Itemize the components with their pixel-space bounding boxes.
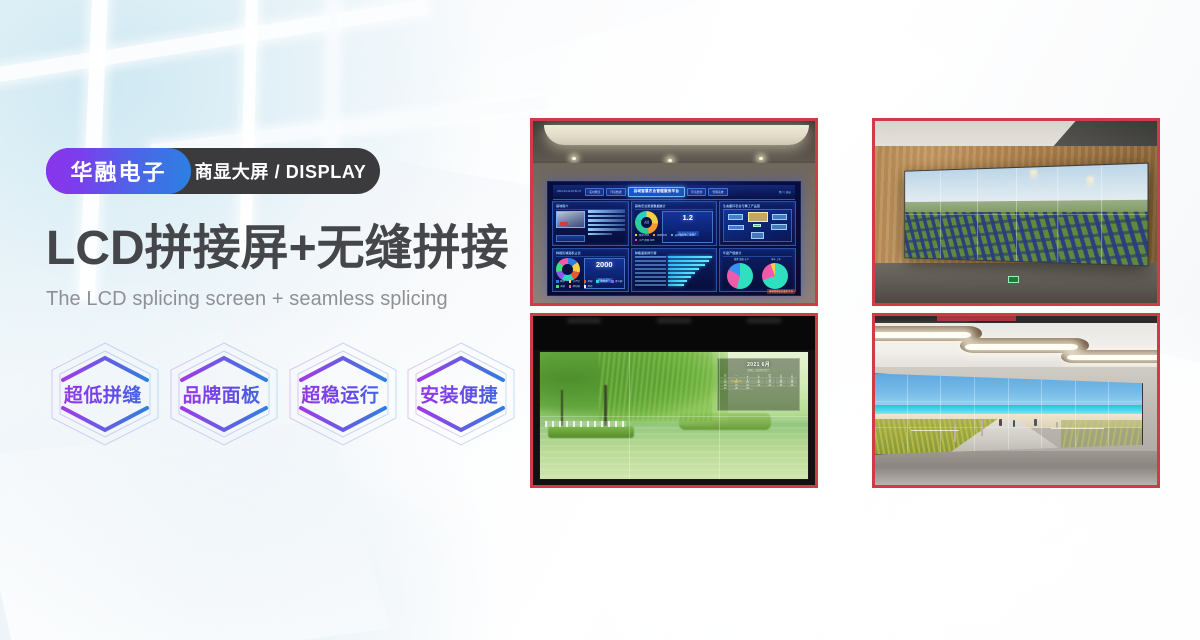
feature-badge-3: 超稳运行 xyxy=(284,339,398,449)
panel-text-lines xyxy=(588,210,625,237)
feature-badge-2: 品牌面板 xyxy=(165,339,279,449)
panel-seam xyxy=(907,374,908,453)
panel-seam xyxy=(1075,374,1076,453)
bar-row xyxy=(635,260,713,263)
bar-row xyxy=(635,272,713,275)
donut-center-label: 占比 xyxy=(635,211,658,234)
calendar-weekday: 五 xyxy=(776,373,787,377)
feature-badge-3-label: 超稳运行 xyxy=(284,380,398,407)
calendar-day[interactable]: 25 xyxy=(776,385,787,387)
dashboard-navbar: 2021-04-12 10:51:27 实时概览 环境数据 县域智慧农业管理服务… xyxy=(553,185,795,200)
pie-chart-1 xyxy=(727,263,753,289)
bar-row xyxy=(635,256,713,259)
rope xyxy=(911,430,959,431)
panel-seam xyxy=(875,427,1142,428)
donut-chart: 占比 xyxy=(635,211,658,234)
dashboard-user-info[interactable]: 用户 | 退出 xyxy=(779,190,793,194)
ceiling-light-strip xyxy=(965,344,1078,350)
calendar-day[interactable]: 27 xyxy=(720,388,731,390)
legend-item: 药材园 xyxy=(572,284,579,288)
solar-panel-array xyxy=(905,212,1148,265)
wall-lamp xyxy=(1087,177,1094,188)
dashboard-timestamp: 2021-04-12 10:51:27 xyxy=(555,190,583,193)
bar-row xyxy=(635,264,713,267)
dashboard-panel-产业链: 生态循环农业与精工产品链 xyxy=(719,201,796,246)
calendar-weekday: 四 xyxy=(765,373,776,377)
video-wall-screen: 2021 6月 星期二 农历四月廿六 日 一 二 三 四 五 六 1 2 xyxy=(539,351,810,479)
floor xyxy=(875,263,1157,303)
panel-seam xyxy=(905,214,1148,215)
ceiling-light-strip xyxy=(1067,355,1157,360)
legend-item: 畜牧服务中心 15% xyxy=(675,233,695,237)
ceiling-glow xyxy=(657,318,691,323)
willow-branches xyxy=(599,351,712,420)
dashboard-tab-1[interactable]: 实时概览 xyxy=(585,188,604,196)
ceiling-light-strip xyxy=(875,332,971,338)
bar-chart xyxy=(635,256,713,289)
feature-badge-2-label: 品牌面板 xyxy=(165,380,279,407)
legend-item: 苗木园 xyxy=(615,279,622,283)
promo-banner: 华融电子 商显大屏 / DISPLAY LCD拼接屏+无缝拼接 The LCD … xyxy=(0,0,1200,640)
person-figure xyxy=(1034,419,1037,426)
bar-row xyxy=(635,280,713,283)
pie-chart-2 xyxy=(762,263,788,289)
bar-row xyxy=(635,268,713,271)
fence-railing xyxy=(545,421,626,427)
legend-item: 蔬菜棚 xyxy=(600,279,607,283)
ceiling-cove-light xyxy=(544,125,809,145)
ceiling-glow xyxy=(567,318,601,323)
legend-item: 水产 养殖 10% xyxy=(639,238,655,242)
brand-name: 华融电子 xyxy=(46,148,191,194)
dashboard-footer-note: 基地智慧农业服务平台 xyxy=(767,289,795,294)
kpi-value: 1.2 xyxy=(665,214,710,222)
legend-item: 水产区 xyxy=(572,279,579,283)
panel-thumbnail xyxy=(556,211,585,228)
calendar-day[interactable]: 29 xyxy=(742,388,753,390)
feature-badge-1: 超低拼缝 xyxy=(46,339,160,449)
dashboard-tab-2[interactable]: 环境数据 xyxy=(606,188,625,196)
product-photo-lobby-wall xyxy=(872,313,1160,488)
product-photo-garden-wall: 2021 6月 星期二 农历四月廿六 日 一 二 三 四 五 六 1 2 xyxy=(530,313,818,488)
dashboard-tab-4[interactable]: 管理系统 xyxy=(708,188,727,196)
chart-legend: 粮食 45% 果蔬 30% 畜牧服务中心 15% 水产 养殖 10% xyxy=(635,233,713,242)
product-photo-control-room: 2021-04-12 10:51:27 实时概览 环境数据 县域智慧农业管理服务… xyxy=(530,118,818,306)
exit-sign xyxy=(1008,276,1019,283)
feature-badge-1-label: 超低拼缝 xyxy=(46,380,160,407)
legend-item: 粮食 xyxy=(560,279,565,283)
rope-post xyxy=(981,420,983,436)
product-photo-solar-wall xyxy=(872,118,1160,306)
calendar-day[interactable]: 23 xyxy=(753,385,764,387)
dashboard-panel-基地简介: 基地简介 xyxy=(552,201,629,246)
rope xyxy=(1051,428,1105,429)
bar-row xyxy=(635,276,713,279)
legend-item: 其他 xyxy=(587,284,592,288)
calendar-day[interactable]: 26 xyxy=(787,385,798,387)
calendar-weekday: 六 xyxy=(787,373,798,377)
bar-row xyxy=(635,284,713,287)
dark-ceiling xyxy=(533,316,815,350)
wall-lamp xyxy=(1030,170,1037,181)
panel-seam xyxy=(1108,374,1109,453)
panel-seam xyxy=(1041,374,1042,453)
calendar-weekday: 一 xyxy=(731,373,742,377)
kpi-value: 2000 xyxy=(587,261,622,269)
rope-post xyxy=(1056,422,1058,439)
panel-caption-block xyxy=(556,235,585,242)
chart-legend: 粮食 水产区 果园 蔬菜棚 苗木园 茶园 药材园 其他 xyxy=(556,279,625,288)
dashboard-tab-3[interactable]: 环境监测 xyxy=(687,188,706,196)
dashboard-title: 县域智慧农业管理服务平台 xyxy=(628,187,686,197)
sky xyxy=(905,163,1148,205)
video-wall-screen: 2021-04-12 10:51:27 实时概览 环境数据 县域智慧农业管理服务… xyxy=(547,181,801,296)
brand-badge: 华融电子 商显大屏 / DISPLAY xyxy=(46,148,380,194)
headline-block: 华融电子 商显大屏 / DISPLAY LCD拼接屏+无缝拼接 The LCD … xyxy=(46,148,516,449)
person-figure xyxy=(999,419,1002,426)
ceiling-red-accent xyxy=(937,316,1016,321)
ceiling-glow xyxy=(747,318,781,323)
dashboard-panel-排行榜: 种植面积排行榜 xyxy=(631,248,717,293)
floor xyxy=(875,451,1157,485)
panel-seam xyxy=(1008,374,1009,453)
donut-chart xyxy=(556,258,579,281)
page-title: LCD拼接屏+无缝拼接 xyxy=(46,224,516,274)
feature-badge-4-label: 安装便捷 xyxy=(402,380,516,407)
dashboard-panel-产值统计: 年度产值统计 粮食 果蔬 水产 本年 上年 xyxy=(719,248,796,293)
dashboard: 2021-04-12 10:51:27 实时概览 环境数据 县域智慧农业管理服务… xyxy=(548,182,800,295)
panel-seam xyxy=(974,374,975,453)
calendar-weekday: 三 xyxy=(753,373,764,377)
brand-category: 商显大屏 / DISPLAY xyxy=(191,148,380,194)
dashboard-panel-grid: 基地简介 xyxy=(552,201,796,292)
calendar-widget: 2021 6月 星期二 农历四月廿六 日 一 二 三 四 五 六 1 2 xyxy=(717,358,800,411)
dashboard-panel-面积占比: 种植区域面积占比 2000 种植总面积 xyxy=(552,248,629,293)
calendar-weekday: 日 xyxy=(720,373,731,377)
panel-seam xyxy=(940,374,941,453)
feature-badge-4: 安装便捷 xyxy=(402,339,516,449)
video-wall-screen xyxy=(904,162,1149,266)
calendar-subtitle: 星期二 农历四月廿六 xyxy=(720,368,797,372)
feature-badge-row: 超低拼缝 品牌面板 超稳运行 xyxy=(46,339,516,449)
panel-seam xyxy=(875,401,1142,402)
background-facet-bottom-left xyxy=(0,420,390,640)
legend-item: 茶园 xyxy=(560,284,565,288)
video-wall-screen xyxy=(875,373,1143,454)
flow-diagram xyxy=(723,209,792,242)
legend-item: 果园 xyxy=(587,279,592,283)
calendar-weekday: 二 xyxy=(742,373,753,377)
calendar-day[interactable]: 28 xyxy=(731,388,742,390)
dashboard-panel-资源统计: 基地农业资源数据统计 占比 1.2 年度总产量预计 xyxy=(631,201,717,246)
hedge xyxy=(548,426,634,439)
page-subtitle: The LCD splicing screen + seamless splic… xyxy=(46,288,516,311)
panel-seam xyxy=(540,416,809,417)
calendar-grid: 日 一 二 三 四 五 六 1 2 3 4 5 6 xyxy=(720,373,797,390)
calendar-title: 2021 6月 xyxy=(720,361,797,368)
calendar-day[interactable]: 24 xyxy=(765,385,776,387)
